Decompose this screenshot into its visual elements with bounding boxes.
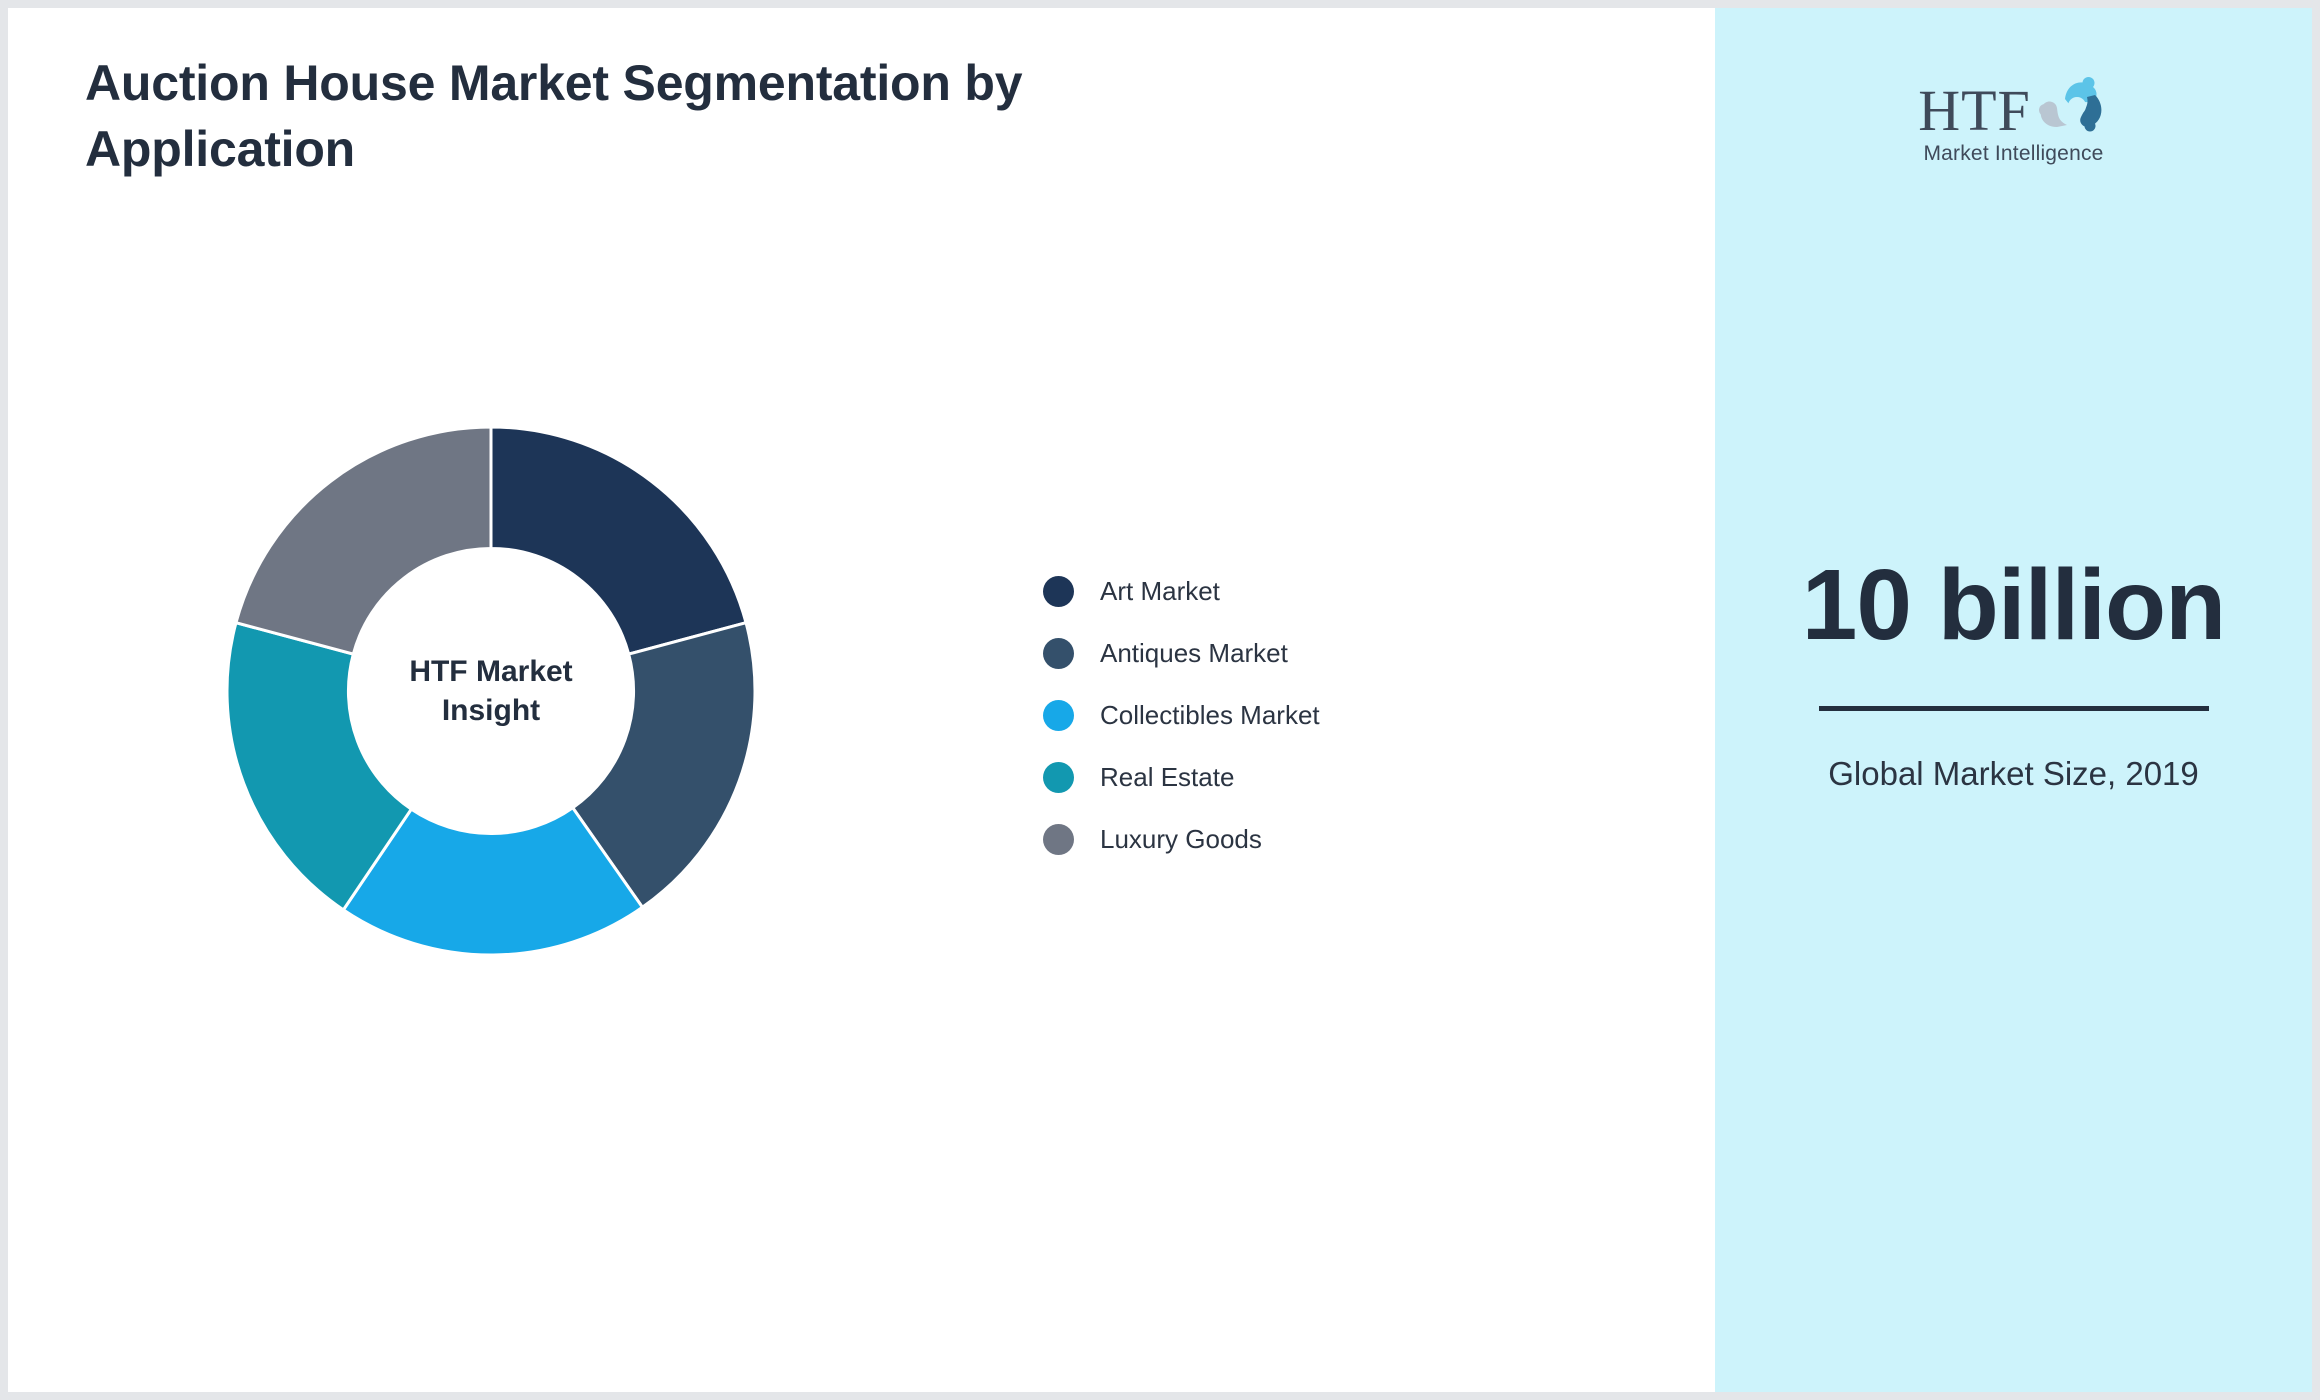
legend-swatch-icon — [1043, 638, 1074, 669]
donut-chart: HTF Market Insight — [219, 419, 763, 963]
legend-item-label: Art Market — [1100, 576, 1220, 607]
legend-swatch-icon — [1043, 824, 1074, 855]
legend-item-label: Luxury Goods — [1100, 824, 1262, 855]
legend-item-label: Real Estate — [1100, 762, 1234, 793]
legend-item[interactable]: Real Estate — [1043, 746, 1320, 808]
donut-slice-group — [227, 427, 755, 955]
legend-item-label: Antiques Market — [1100, 638, 1288, 669]
brand-logo: HTF — [1884, 70, 2144, 166]
logo-wordmark: HTF — [1918, 82, 2031, 140]
stat-caption: Global Market Size, 2019 — [1784, 751, 2244, 798]
left-content-panel: Auction House Market Segmentation by App… — [8, 8, 1715, 1392]
legend-swatch-icon — [1043, 700, 1074, 731]
stat-value: 10 billion — [1784, 548, 2244, 662]
legend-item[interactable]: Collectibles Market — [1043, 684, 1320, 746]
donut-slice[interactable] — [491, 427, 746, 654]
chart-legend: Art MarketAntiques MarketCollectibles Ma… — [1043, 560, 1320, 870]
right-stat-panel: HTF — [1715, 8, 2312, 1392]
page-title: Auction House Market Segmentation by App… — [85, 50, 1035, 182]
donut-slice[interactable] — [236, 427, 491, 654]
infographic-root: Auction House Market Segmentation by App… — [0, 0, 2320, 1400]
legend-item-label: Collectibles Market — [1100, 700, 1320, 731]
legend-item[interactable]: Antiques Market — [1043, 622, 1320, 684]
stat-divider — [1819, 706, 2209, 711]
legend-item[interactable]: Luxury Goods — [1043, 808, 1320, 870]
three-people-circle-icon — [2035, 73, 2109, 140]
legend-swatch-icon — [1043, 576, 1074, 607]
legend-swatch-icon — [1043, 762, 1074, 793]
legend-item[interactable]: Art Market — [1043, 560, 1320, 622]
logo-tagline: Market Intelligence — [1923, 142, 2103, 166]
stat-block: 10 billion Global Market Size, 2019 — [1784, 548, 2244, 798]
donut-chart-svg — [219, 419, 763, 963]
logo-mark: HTF — [1918, 70, 2109, 140]
